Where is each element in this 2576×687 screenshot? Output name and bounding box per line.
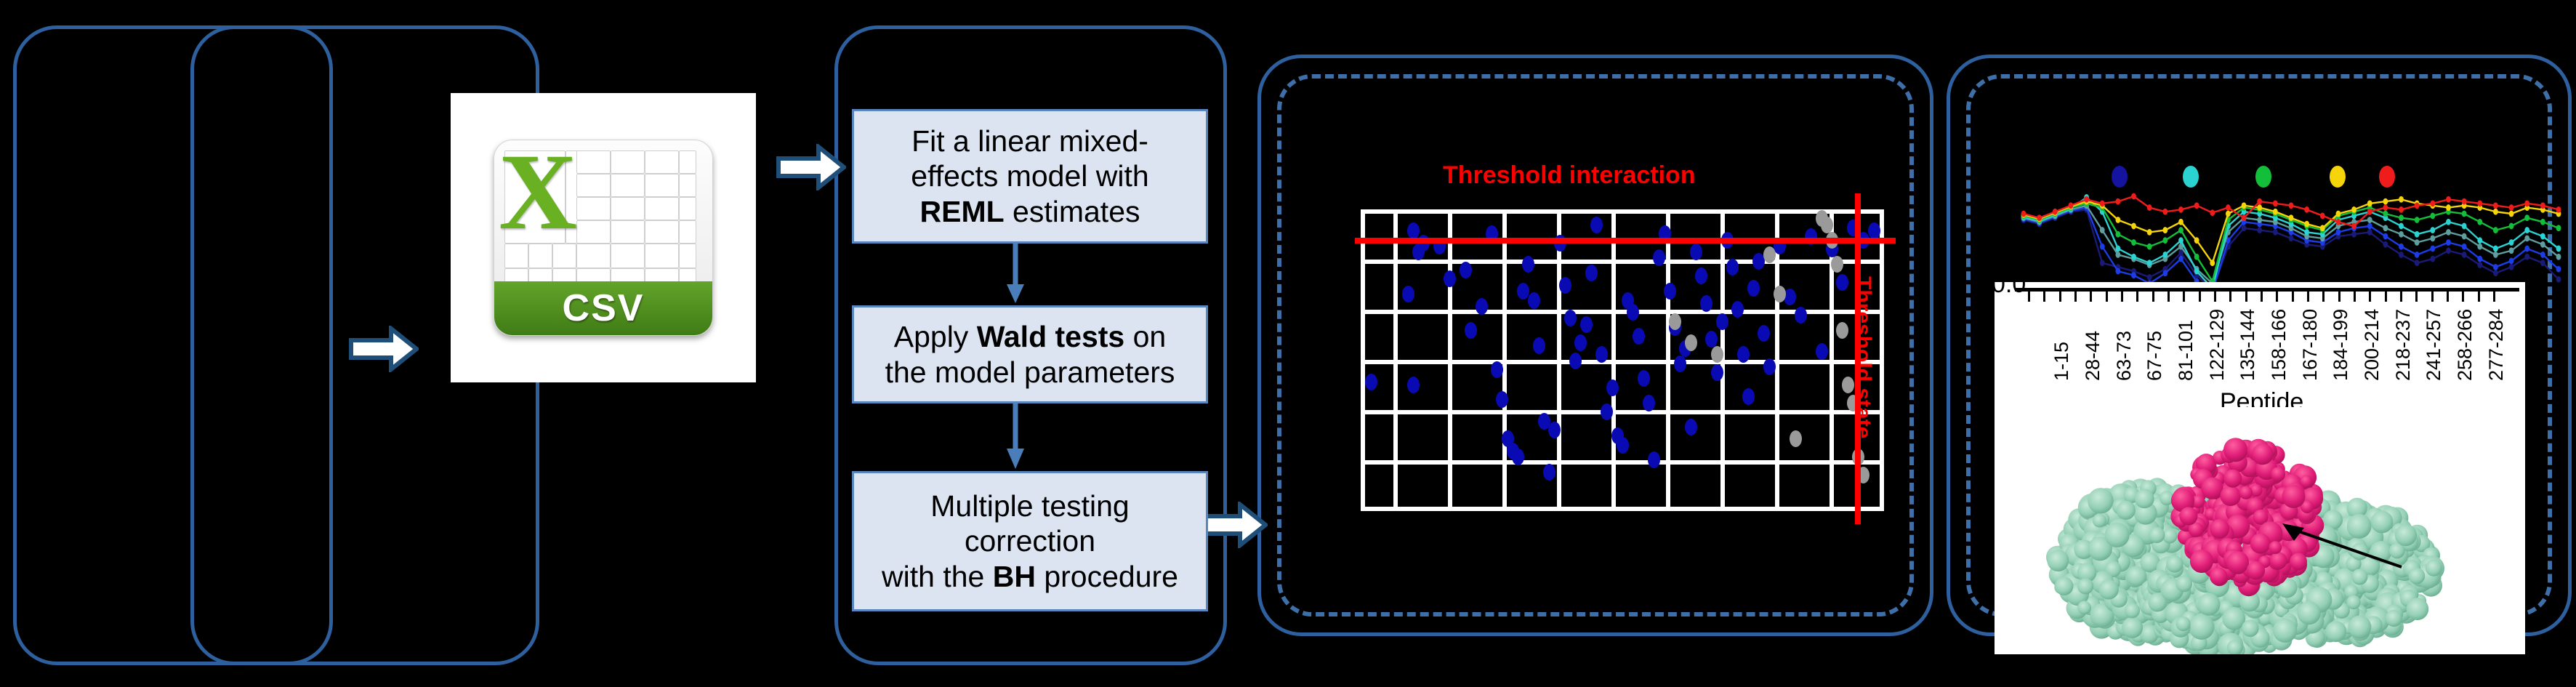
line-point — [2210, 209, 2215, 216]
line-point — [2493, 209, 2498, 215]
scatter-point — [1643, 395, 1655, 411]
line-point — [2100, 201, 2105, 207]
line-point — [2556, 206, 2561, 213]
line-point — [2162, 227, 2168, 233]
protein-surface-atom — [2348, 616, 2372, 639]
scatter-point — [1627, 304, 1639, 321]
protein-surface-atom — [2250, 534, 2271, 554]
scatter-point — [1726, 259, 1739, 276]
peptide-tick-label: 167-180 — [2299, 309, 2322, 381]
scatter-point — [1690, 244, 1702, 260]
legend-dot-red — [2379, 166, 2395, 188]
scatter-point — [1836, 322, 1848, 339]
line-point — [2524, 246, 2529, 252]
line-point — [2556, 225, 2561, 231]
line-point — [2509, 257, 2514, 264]
scatter-point — [1747, 280, 1760, 297]
protein-surface-atom — [2273, 619, 2297, 643]
line-point — [2273, 229, 2278, 236]
line-point — [2115, 252, 2120, 258]
protein-surface-atom — [2395, 524, 2417, 546]
scatter-point — [1564, 310, 1577, 326]
line-point — [2178, 206, 2183, 213]
line-point — [2178, 227, 2183, 233]
scatter-point — [1711, 364, 1723, 381]
legend-dot-yellow — [2330, 166, 2346, 188]
x-axis-tick — [2478, 292, 2480, 302]
x-axis-tick — [2074, 292, 2077, 302]
line-point — [2446, 219, 2451, 225]
scatter-point — [1491, 361, 1503, 378]
line-point — [2524, 214, 2529, 221]
line-point — [2069, 202, 2074, 209]
line-point — [2446, 196, 2451, 203]
line-point — [2242, 202, 2247, 209]
line-point — [2194, 268, 2199, 275]
line-point — [2162, 270, 2168, 276]
scatter-point — [1543, 464, 1555, 481]
protein-surface-atom — [2149, 527, 2165, 543]
scatter-point — [1685, 334, 1697, 351]
line-point — [2446, 247, 2451, 254]
scatter-point — [1465, 322, 1477, 339]
line-point — [2540, 219, 2545, 225]
line-point — [2477, 237, 2482, 244]
line-point — [2178, 237, 2183, 244]
line-point — [2540, 260, 2545, 266]
line-point — [2351, 231, 2356, 238]
line-point — [2383, 198, 2388, 205]
line-point — [2194, 237, 2199, 244]
line-point — [2524, 227, 2529, 233]
scatter-point — [1574, 334, 1587, 351]
line-point — [2556, 246, 2561, 252]
line-point — [2100, 260, 2105, 266]
scatter-point — [1868, 222, 1880, 239]
x-axis-tick — [2059, 292, 2061, 302]
line-point — [2493, 202, 2498, 209]
line-point — [2115, 246, 2120, 252]
peptide-tick-label: 158-166 — [2268, 309, 2290, 381]
line-point — [2415, 202, 2420, 209]
x-axis-tick — [2462, 292, 2464, 302]
line-point — [2383, 225, 2388, 231]
line-point — [2399, 231, 2404, 238]
protein-surface-atom — [2409, 568, 2426, 584]
line-point — [2399, 196, 2404, 203]
protein-surface-atom — [2426, 560, 2442, 576]
x-axis-tick — [2400, 292, 2402, 302]
line-point — [2493, 246, 2498, 252]
scatter-point — [1685, 419, 1697, 435]
line-point — [2477, 219, 2482, 225]
flow-box-multiple-testing-label: Multiple testingcorrectionwith the BH pr… — [882, 489, 1178, 594]
x-axis-tick — [2292, 292, 2294, 302]
protein-surface-atom — [2223, 470, 2242, 488]
line-point — [2446, 239, 2451, 246]
peptide-tick-label: 63-73 — [2113, 331, 2136, 381]
line-point — [2399, 244, 2404, 250]
x-axis-tick — [2136, 292, 2138, 302]
protein-surface-atom — [2190, 550, 2213, 573]
scatter-point — [1633, 328, 1645, 345]
protein-surface-atom — [2210, 519, 2229, 539]
csv-card: X CSV — [494, 140, 713, 336]
line-point — [2540, 233, 2545, 240]
line-point — [2351, 223, 2356, 230]
line-point — [2383, 211, 2388, 217]
scatter-point — [1528, 292, 1540, 309]
protein-surface-atom — [2239, 486, 2253, 499]
line-point — [2320, 212, 2325, 219]
line-point — [2383, 204, 2388, 211]
line-point — [2383, 241, 2388, 248]
x-axis-tick — [2276, 292, 2278, 302]
line-point — [2147, 260, 2152, 266]
peptide-line-chart — [2006, 185, 2576, 298]
line-point — [2257, 198, 2262, 205]
x-axis-tick — [2043, 292, 2045, 302]
threshold-state-label: Threshold state — [1851, 276, 1875, 438]
line-point — [2100, 227, 2105, 233]
line-point — [2446, 229, 2451, 236]
scatter-point — [1617, 437, 1629, 454]
protein-surface-atom — [2122, 617, 2143, 638]
protein-surface-atom — [2269, 541, 2282, 554]
line-point — [2367, 217, 2372, 223]
peptide-tick-label: 28-44 — [2082, 331, 2104, 381]
line-point — [2509, 223, 2514, 230]
scatter-point — [1648, 451, 1660, 468]
legend-dot-cyan — [2183, 166, 2199, 188]
protein-surface-atom — [2247, 561, 2265, 579]
scatter-point — [1580, 316, 1593, 333]
line-point — [2415, 239, 2420, 246]
scatter-point — [1705, 331, 1718, 347]
line-point — [2399, 214, 2404, 221]
line-point — [2021, 211, 2026, 217]
line-point — [2131, 272, 2136, 278]
scatter-point — [1716, 313, 1728, 330]
line-point — [2226, 204, 2231, 211]
line-point — [2131, 239, 2136, 246]
scatter-point — [1742, 388, 1755, 405]
flow-connector-2 — [1001, 403, 1030, 471]
line-point — [2540, 202, 2545, 209]
peptide-tick-label: 81-101 — [2175, 320, 2197, 381]
line-point — [2415, 252, 2420, 258]
scatter-point — [1763, 246, 1776, 263]
scatter-point — [1402, 286, 1414, 302]
protein-surface-atom — [2189, 614, 2214, 640]
x-axis-tick — [2415, 292, 2418, 302]
line-point — [2509, 239, 2514, 246]
line-point — [2289, 235, 2294, 241]
line-point — [2162, 237, 2168, 244]
x-axis-tick — [2106, 292, 2108, 302]
line-point — [2493, 227, 2498, 233]
line-point — [2115, 217, 2120, 223]
scatter-point — [1816, 343, 1828, 360]
protein-surface-atom — [2252, 443, 2274, 465]
line-point — [2430, 212, 2435, 219]
peptide-tick-label: 218-237 — [2392, 309, 2415, 381]
protein-surface-atom — [2371, 511, 2394, 534]
protein-surface-atom — [2346, 595, 2360, 609]
peptide-tick-label: 122-129 — [2206, 309, 2229, 381]
protein-surface-atom — [2351, 569, 2367, 584]
line-point — [2147, 244, 2152, 250]
line-point — [2304, 229, 2309, 236]
protein-surface-atom — [2125, 603, 2140, 618]
line-point — [2289, 214, 2294, 221]
arrow-analysis-to-results — [1198, 502, 1268, 548]
line-point — [2210, 260, 2215, 266]
flow-box-fit-model-label: Fit a linear mixed-effects model withREM… — [911, 124, 1148, 229]
line-point — [2367, 223, 2372, 230]
arrow-csv-to-analysis — [776, 144, 846, 190]
line-point — [2336, 219, 2341, 225]
scatter-point — [1763, 358, 1776, 375]
line-point — [2415, 217, 2420, 223]
scatter-point — [1737, 346, 1750, 363]
protein-surface-atom — [2271, 467, 2285, 481]
line-point — [2304, 221, 2309, 228]
line-point — [2053, 209, 2058, 215]
line-point — [2273, 201, 2278, 207]
peptide-tick-label: 1-15 — [2050, 342, 2073, 381]
protein-surface-atom — [2290, 553, 2307, 571]
line-point — [2131, 223, 2136, 230]
scatter-point — [1700, 295, 1712, 312]
line-point — [2131, 193, 2136, 200]
line-point — [2462, 244, 2467, 250]
line-point — [2131, 254, 2136, 260]
line-point — [2430, 256, 2435, 262]
line-point — [2477, 201, 2482, 207]
peptide-tick-label: 184-199 — [2330, 309, 2352, 381]
line-point — [2430, 201, 2435, 207]
line-point — [2477, 256, 2482, 262]
x-axis-tick — [2199, 292, 2201, 302]
line-point — [2462, 198, 2467, 205]
scatter-point — [1711, 346, 1723, 363]
peptide-tick-label: 258-266 — [2454, 309, 2476, 381]
line-point — [2556, 276, 2561, 283]
arrow-input-to-csv — [349, 326, 419, 372]
x-axis-tick — [2385, 292, 2387, 302]
flow-box-multiple-testing[interactable]: Multiple testingcorrectionwith the BH pr… — [852, 471, 1208, 611]
line-point — [2430, 235, 2435, 241]
csv-file-icon: X CSV — [451, 93, 756, 382]
protein-surface-atom — [2298, 601, 2321, 624]
line-point — [2367, 201, 2372, 207]
flow-box-wald-tests[interactable]: Apply Wald tests onthe model parameters — [852, 305, 1208, 403]
line-point — [2273, 209, 2278, 215]
legend-dot-green — [2255, 166, 2271, 188]
line-point — [2446, 204, 2451, 211]
line-point — [2257, 217, 2262, 223]
line-point — [2162, 209, 2168, 215]
line-point — [2257, 227, 2262, 233]
peptide-tick-label: 200-214 — [2361, 309, 2383, 381]
scatter-point — [1784, 289, 1796, 305]
scatter-point — [1638, 370, 1650, 387]
scatter-point — [1674, 355, 1686, 372]
threshold-interaction-label: Threshold interaction — [1443, 161, 1696, 190]
protein-surface-atom — [2098, 579, 2119, 600]
x-axis-tick — [2229, 292, 2231, 302]
scatter-point — [1444, 270, 1456, 287]
line-point — [2226, 211, 2231, 217]
protein-surface-atom — [2325, 621, 2346, 642]
line-point — [2462, 233, 2467, 240]
peptide-tick-label: 67-75 — [2144, 331, 2166, 381]
line-point — [2178, 219, 2183, 225]
scatter-point — [1758, 325, 1770, 342]
line-point — [2415, 260, 2420, 266]
scatter-point — [1460, 262, 1472, 278]
line-point — [2540, 241, 2545, 248]
protein-surface-atom — [2282, 485, 2306, 508]
x-axis-tick — [2121, 292, 2123, 302]
x-axis-tick — [2431, 292, 2434, 302]
scatter-point — [1664, 283, 1676, 300]
line-point — [2477, 244, 2482, 250]
line-point — [2367, 229, 2372, 236]
scatter-point — [1669, 313, 1681, 330]
line-point — [2242, 214, 2247, 221]
line-point — [2540, 252, 2545, 258]
line-point — [2115, 268, 2120, 275]
scatter-point — [1522, 256, 1534, 273]
line-point — [2493, 252, 2498, 258]
protein-surface-atom — [2105, 523, 2130, 547]
line-point — [2383, 233, 2388, 240]
protein-surface-atom — [2407, 598, 2429, 620]
line-point — [2415, 231, 2420, 238]
x-axis-tick — [2261, 292, 2263, 302]
csv-band: CSV — [494, 281, 712, 335]
protein-surface-atom — [2093, 514, 2106, 528]
line-point — [2462, 211, 2467, 217]
protein-structure-image: Binding interface — [1995, 407, 2525, 654]
line-point — [2556, 266, 2561, 273]
line-point — [2289, 202, 2294, 209]
scatter-point — [1795, 307, 1807, 324]
line-point — [2509, 204, 2514, 211]
line-point — [2162, 252, 2168, 258]
protein-surface-atom — [2223, 438, 2247, 462]
x-axis-tick — [2028, 292, 2030, 302]
legend-dot-navy — [2112, 166, 2128, 188]
protein-surface-atom — [2201, 478, 2223, 499]
protein-surface-atom — [2135, 489, 2154, 509]
line-point — [2178, 256, 2183, 262]
line-point — [2509, 247, 2514, 254]
line-point — [2147, 274, 2152, 281]
line-point — [2304, 206, 2309, 213]
protein-surface-atom — [2197, 593, 2220, 616]
x-axis-tick — [2245, 292, 2247, 302]
line-point — [2556, 254, 2561, 260]
scatter-point — [1695, 268, 1707, 284]
scatter-point — [1831, 256, 1843, 273]
protein-surface-atom — [2077, 600, 2091, 614]
scatter-point — [1407, 222, 1420, 239]
threshold-interaction-line — [1355, 238, 1896, 244]
line-point — [2462, 252, 2467, 258]
x-axis-tick — [2322, 292, 2325, 302]
x-axis-tick — [2152, 292, 2154, 302]
csv-label: CSV — [563, 286, 645, 330]
protein-surface-atom — [2088, 488, 2113, 513]
line-point — [2100, 244, 2105, 250]
protein-surface-atom — [2179, 507, 2197, 525]
line-point — [2430, 246, 2435, 252]
scatter-point — [1585, 265, 1598, 281]
flow-connector-1 — [1001, 244, 1030, 305]
protein-surface-atom — [2270, 552, 2287, 569]
line-point — [2336, 229, 2341, 236]
line-point — [2115, 198, 2120, 205]
scatter-point — [1821, 217, 1833, 233]
x-axis-tick — [2338, 292, 2340, 302]
protein-surface-atom — [2166, 555, 2183, 572]
line-point — [2524, 235, 2529, 241]
flow-box-fit-model[interactable]: Fit a linear mixed-effects model withREM… — [852, 109, 1208, 244]
line-point — [2320, 225, 2325, 231]
volcano-scatter-plot: Threshold interaction — [1301, 116, 1904, 553]
x-axis-tick — [2447, 292, 2449, 302]
peptide-axis-block: 0.0 1-1528-4463-7367-7581-101122-129135-… — [1995, 282, 2525, 420]
line-point — [2242, 225, 2247, 231]
line-point — [2462, 223, 2467, 230]
scatter-point — [1606, 379, 1619, 396]
x-axis-tick — [2090, 292, 2092, 302]
line-point — [2493, 264, 2498, 270]
protein-surface-atom — [2242, 620, 2259, 638]
peptide-tick-label: 241-257 — [2423, 309, 2445, 381]
protein-surface-atom — [2117, 501, 2136, 520]
scatter-point — [1407, 377, 1420, 393]
line-point — [2351, 206, 2356, 213]
line-point — [2194, 202, 2199, 209]
protein-surface-atom — [2175, 616, 2190, 631]
x-axis-tick — [2183, 292, 2185, 302]
protein-surface-atom — [2347, 514, 2372, 539]
line-point — [2399, 252, 2404, 258]
scatter-plot-area — [1361, 209, 1884, 511]
line-point — [2524, 254, 2529, 260]
line-point — [2524, 201, 2529, 207]
scatter-point — [1836, 274, 1848, 291]
line-point — [2194, 254, 2199, 260]
x-axis-tick — [2354, 292, 2356, 302]
line-point — [2037, 214, 2042, 221]
scatter-point — [1365, 374, 1377, 390]
x-axis-tick — [2307, 292, 2309, 302]
scatter-point — [1476, 298, 1488, 315]
protein-surface-atom — [2221, 486, 2241, 506]
flow-box-wald-tests-label: Apply Wald tests onthe model parameters — [885, 319, 1175, 390]
protein-surface-atom — [2210, 568, 2228, 586]
x-axis-tick — [2168, 292, 2170, 302]
protein-surface-atom — [2386, 610, 2402, 627]
peptide-tick-label: 135-144 — [2237, 309, 2259, 381]
scatter-point — [1731, 301, 1744, 318]
line-point — [2367, 209, 2372, 215]
